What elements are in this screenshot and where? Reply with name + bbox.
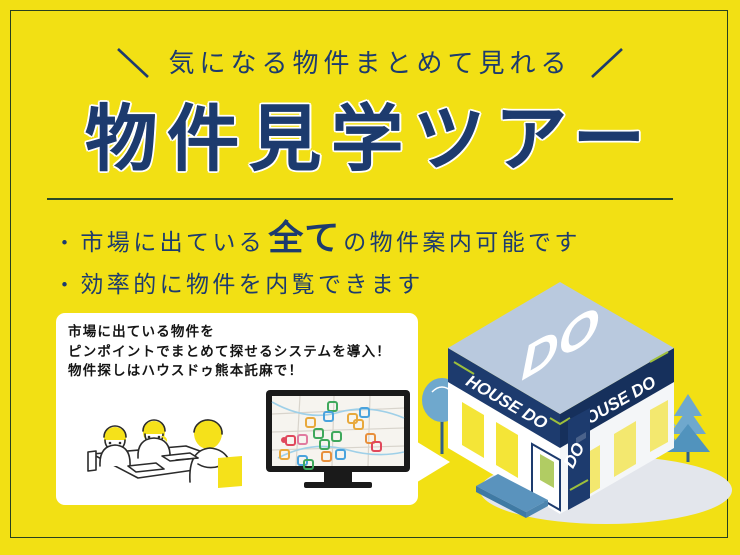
- tagline-text: 気になる物件まとめて見れる: [156, 50, 583, 76]
- tagline-row: 気になる物件まとめて見れる: [0, 40, 740, 86]
- info-card-line-2: ピンポイントでまとめて探せるシステムを導入！: [68, 342, 408, 362]
- benefit-text-before: 市場に出ている: [80, 222, 265, 263]
- info-card-line-3: 物件探しはハウスドゥ熊本託麻で！: [68, 361, 408, 381]
- bullet-marker-icon: ・: [54, 265, 78, 306]
- backslash-stroke-icon: [112, 45, 156, 81]
- meeting-people-illustration: [66, 386, 246, 492]
- monitor-map-illustration: [262, 388, 414, 493]
- info-card-line-1: 市場に出ている物件を: [68, 322, 408, 342]
- benefit-emphasis: 全て: [265, 218, 343, 259]
- forward-slash-stroke-icon: [584, 45, 628, 81]
- benefit-text-after: の物件案内可能です: [343, 222, 581, 263]
- benefit-text-before: 効率的に物件を内覧できます: [80, 264, 423, 305]
- housedo-store-illustration: DO HOUSE DO HOUSE DO: [410, 262, 740, 532]
- title-divider: [47, 198, 673, 200]
- page-title: 物件見学ツアー: [0, 104, 740, 176]
- promo-banner: 気になる物件まとめて見れる 物件見学ツアー ・ 市場に出ている 全て の物件案内…: [0, 0, 740, 555]
- info-card-text: 市場に出ている物件を ピンポイントでまとめて探せるシステムを導入！ 物件探しはハ…: [68, 322, 408, 381]
- benefit-item: ・ 市場に出ている 全て の物件案内可能です: [54, 218, 694, 264]
- bullet-marker-icon: ・: [54, 223, 78, 264]
